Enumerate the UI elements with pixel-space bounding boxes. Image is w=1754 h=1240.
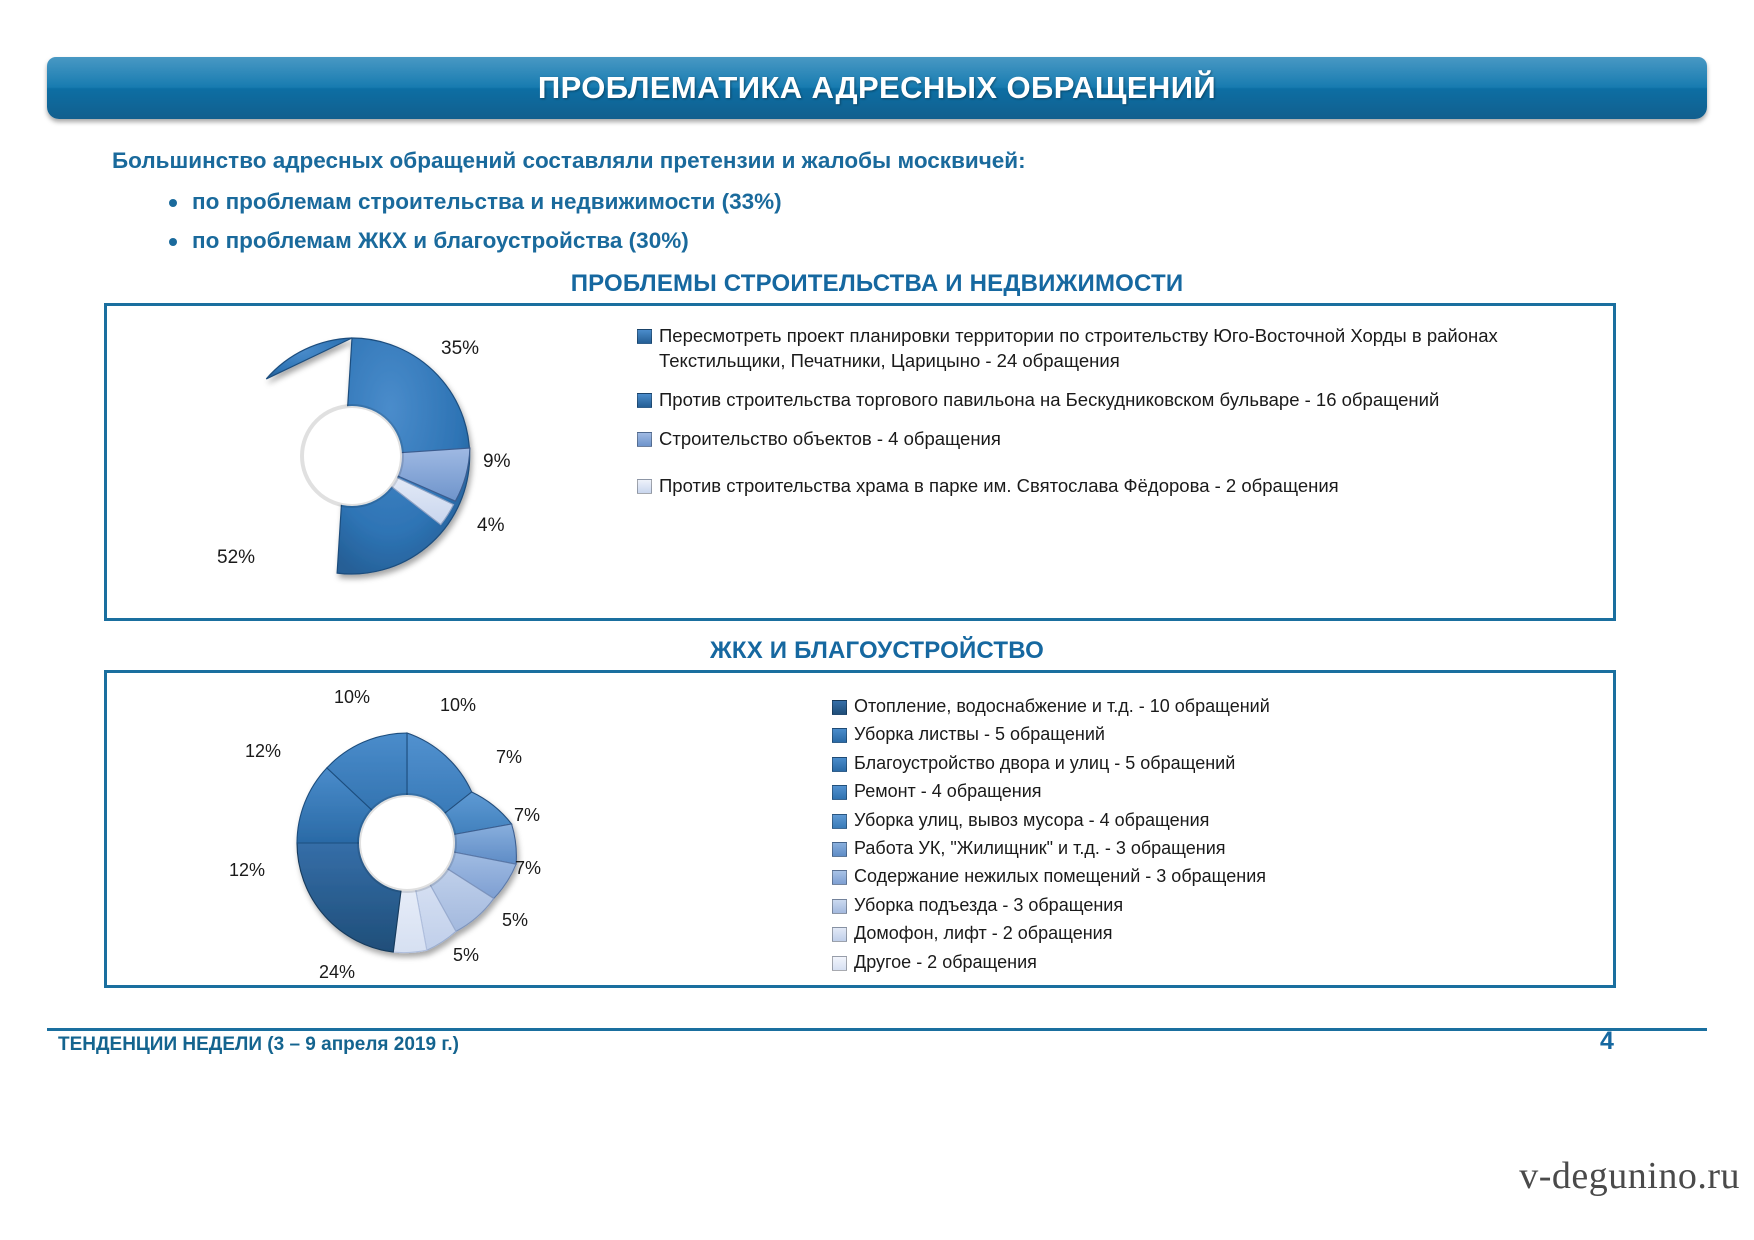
slice-label: 12% (229, 860, 265, 881)
footer-label: ТЕНДЕНЦИИ НЕДЕЛИ (3 – 9 апреля 2019 г.) (58, 1034, 459, 1056)
legend-label: Другое - 2 обращения (854, 951, 1037, 974)
bullet-dot-icon (169, 238, 177, 246)
section-header-utilities: ЖКХ И БЛАГОУСТРОЙСТВО (0, 637, 1754, 665)
footer-divider (47, 1028, 1707, 1031)
legend-item: Домофон, лифт - 2 обращения (832, 922, 1592, 945)
legend-item: Благоустройство двора и улиц - 5 обращен… (832, 752, 1592, 775)
legend-swatch-icon (832, 757, 847, 772)
legend-item: Против строительства торгового павильона… (637, 388, 1577, 413)
legend-swatch-icon (832, 728, 847, 743)
legend-swatch-icon (637, 432, 652, 447)
legend-item: Ремонт - 4 обращения (832, 780, 1592, 803)
intro-block: Большинство адресных обращений составлял… (112, 147, 1512, 266)
intro-lead-text: Большинство адресных обращений составлял… (112, 147, 1512, 175)
slice-label: 10% (440, 695, 476, 716)
legend-item: Против строительства храма в парке им. С… (637, 474, 1577, 499)
page-number: 4 (1600, 1027, 1614, 1056)
legend-item: Другое - 2 обращения (832, 951, 1592, 974)
legend-label: Отопление, водоснабжение и т.д. - 10 обр… (854, 695, 1270, 718)
slice-label: 9% (483, 451, 510, 473)
slice-label: 7% (514, 805, 540, 826)
donut-slice-35 (266, 338, 352, 379)
slice-label: 5% (453, 945, 479, 966)
legend-utilities: Отопление, водоснабжение и т.д. - 10 обр… (832, 695, 1592, 979)
legend-swatch-icon (832, 842, 847, 857)
chart-panel-construction: 35% 9% 4% 52% Пересмотреть проект планир… (104, 303, 1616, 621)
legend-label: Пересмотреть проект планировки территори… (659, 324, 1577, 374)
legend-label: Уборка листвы - 5 обращений (854, 723, 1105, 746)
legend-swatch-icon (832, 700, 847, 715)
legend-swatch-icon (832, 814, 847, 829)
legend-label: Уборка улиц, вывоз мусора - 4 обращения (854, 809, 1209, 832)
slice-label: 7% (515, 858, 541, 879)
legend-swatch-icon (832, 899, 847, 914)
legend-item: Строительство объектов - 4 обращения (637, 427, 1577, 452)
legend-swatch-icon (637, 329, 652, 344)
donut-chart-construction: 35% 9% 4% 52% (207, 316, 627, 606)
bullet-label: по проблемам ЖКХ и благоустройства (30%) (192, 228, 689, 253)
legend-label: Уборка подъезда - 3 обращения (854, 894, 1123, 917)
legend-swatch-icon (637, 479, 652, 494)
legend-item: Уборка листвы - 5 обращений (832, 723, 1592, 746)
chart-panel-utilities: 10% 10% 12% 7% 7% 7% 12% 5% 5% 24% Отопл… (104, 670, 1616, 988)
donut-chart-utilities: 10% 10% 12% 7% 7% 7% 12% 5% 5% 24% (187, 683, 627, 983)
page-title: ПРОБЛЕМАТИКА АДРЕСНЫХ ОБРАЩЕНИЙ (538, 70, 1216, 106)
slice-label: 4% (477, 515, 504, 537)
legend-label: Домофон, лифт - 2 обращения (854, 922, 1112, 945)
legend-construction: Пересмотреть проект планировки территори… (637, 324, 1577, 513)
legend-label: Против строительства храма в парке им. С… (659, 474, 1339, 499)
legend-swatch-icon (637, 393, 652, 408)
slice-label: 5% (502, 910, 528, 931)
section-header-construction: ПРОБЛЕМЫ СТРОИТЕЛЬСТВА И НЕДВИЖИМОСТИ (0, 270, 1754, 298)
slice-label: 35% (441, 338, 479, 360)
slice-label: 7% (496, 747, 522, 768)
legend-label: Работа УК, "Жилищник" и т.д. - 3 обращен… (854, 837, 1226, 860)
intro-bullet-list: по проблемам строительства и недвижимост… (112, 188, 1512, 254)
legend-item: Работа УК, "Жилищник" и т.д. - 3 обращен… (832, 837, 1592, 860)
slice-label: 24% (319, 962, 355, 983)
legend-swatch-icon (832, 956, 847, 971)
slice-label: 10% (334, 687, 370, 708)
bullet-label: по проблемам строительства и недвижимост… (192, 189, 782, 214)
bullet-dot-icon (169, 199, 177, 207)
legend-label: Содержание нежилых помещений - 3 обращен… (854, 865, 1266, 888)
legend-swatch-icon (832, 927, 847, 942)
legend-label: Ремонт - 4 обращения (854, 780, 1042, 803)
donut-chart-construction-svg (207, 316, 627, 606)
legend-label: Строительство объектов - 4 обращения (659, 427, 1001, 452)
legend-swatch-icon (832, 785, 847, 800)
legend-swatch-icon (832, 870, 847, 885)
legend-label: Благоустройство двора и улиц - 5 обращен… (854, 752, 1235, 775)
legend-item: Уборка улиц, вывоз мусора - 4 обращения (832, 809, 1592, 832)
list-item: по проблемам строительства и недвижимост… (112, 188, 1512, 215)
slice-label: 12% (245, 741, 281, 762)
list-item: по проблемам ЖКХ и благоустройства (30%) (112, 227, 1512, 254)
legend-item: Уборка подъезда - 3 обращения (832, 894, 1592, 917)
slice-label: 52% (217, 547, 255, 569)
legend-item: Пересмотреть проект планировки территори… (637, 324, 1577, 374)
legend-label: Против строительства торгового павильона… (659, 388, 1439, 413)
watermark: v-degunino.ru (1519, 1154, 1740, 1198)
slide-canvas: ПРОБЛЕМАТИКА АДРЕСНЫХ ОБРАЩЕНИЙ Большинс… (0, 0, 1754, 1240)
donut-chart-utilities-svg (187, 683, 627, 983)
legend-item: Содержание нежилых помещений - 3 обращен… (832, 865, 1592, 888)
legend-item: Отопление, водоснабжение и т.д. - 10 обр… (832, 695, 1592, 718)
slide-title-banner: ПРОБЛЕМАТИКА АДРЕСНЫХ ОБРАЩЕНИЙ (47, 57, 1707, 119)
